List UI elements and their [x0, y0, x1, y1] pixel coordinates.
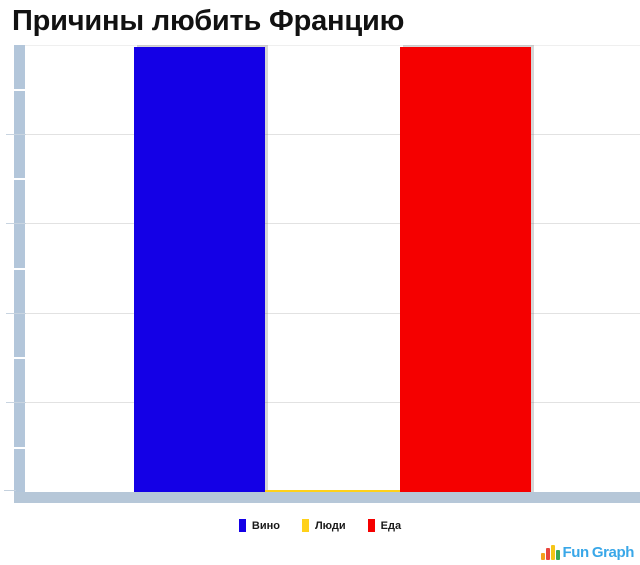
bar-chart-icon [541, 545, 560, 560]
chart-container: Причины любить Францию Вино [0, 0, 640, 565]
gridline-20 [25, 402, 640, 403]
legend-item-food[interactable]: Еда [368, 519, 401, 532]
y-tick-minor [14, 357, 25, 359]
logo-text-fun: Fun [563, 545, 589, 560]
y-tick-minor [14, 268, 25, 270]
legend-item-people[interactable]: Люди [302, 519, 346, 532]
bar-food[interactable] [400, 47, 531, 492]
legend-label-wine: Вино [252, 520, 280, 532]
legend: Вино Люди Еда [0, 519, 640, 532]
x-axis [14, 492, 640, 503]
legend-item-wine[interactable]: Вино [239, 519, 280, 532]
plot-top-edge [25, 45, 640, 46]
y-tick-major-40 [6, 313, 26, 314]
gridline-60 [25, 223, 640, 224]
plot-area [25, 45, 640, 492]
fungraph-logo[interactable]: Fun Graph [541, 538, 634, 560]
gridline-80 [25, 134, 640, 135]
y-tick-minor [14, 89, 25, 91]
legend-swatch-people [302, 519, 309, 532]
y-tick-major-80 [6, 134, 26, 135]
axis-origin-tick [4, 490, 16, 491]
y-tick-minor [14, 447, 25, 449]
legend-label-food: Еда [381, 520, 401, 532]
gridline-40 [25, 313, 640, 314]
legend-swatch-wine [239, 519, 246, 532]
y-tick-major-20 [6, 402, 26, 403]
bar-wine[interactable] [134, 47, 265, 492]
bar-people[interactable] [265, 490, 400, 492]
y-axis [14, 45, 25, 497]
legend-label-people: Люди [315, 520, 346, 532]
logo-text-graph: Graph [592, 545, 634, 560]
legend-swatch-food [368, 519, 375, 532]
y-tick-major-60 [6, 223, 26, 224]
y-tick-minor [14, 178, 25, 180]
chart-title: Причины любить Францию [12, 2, 404, 40]
